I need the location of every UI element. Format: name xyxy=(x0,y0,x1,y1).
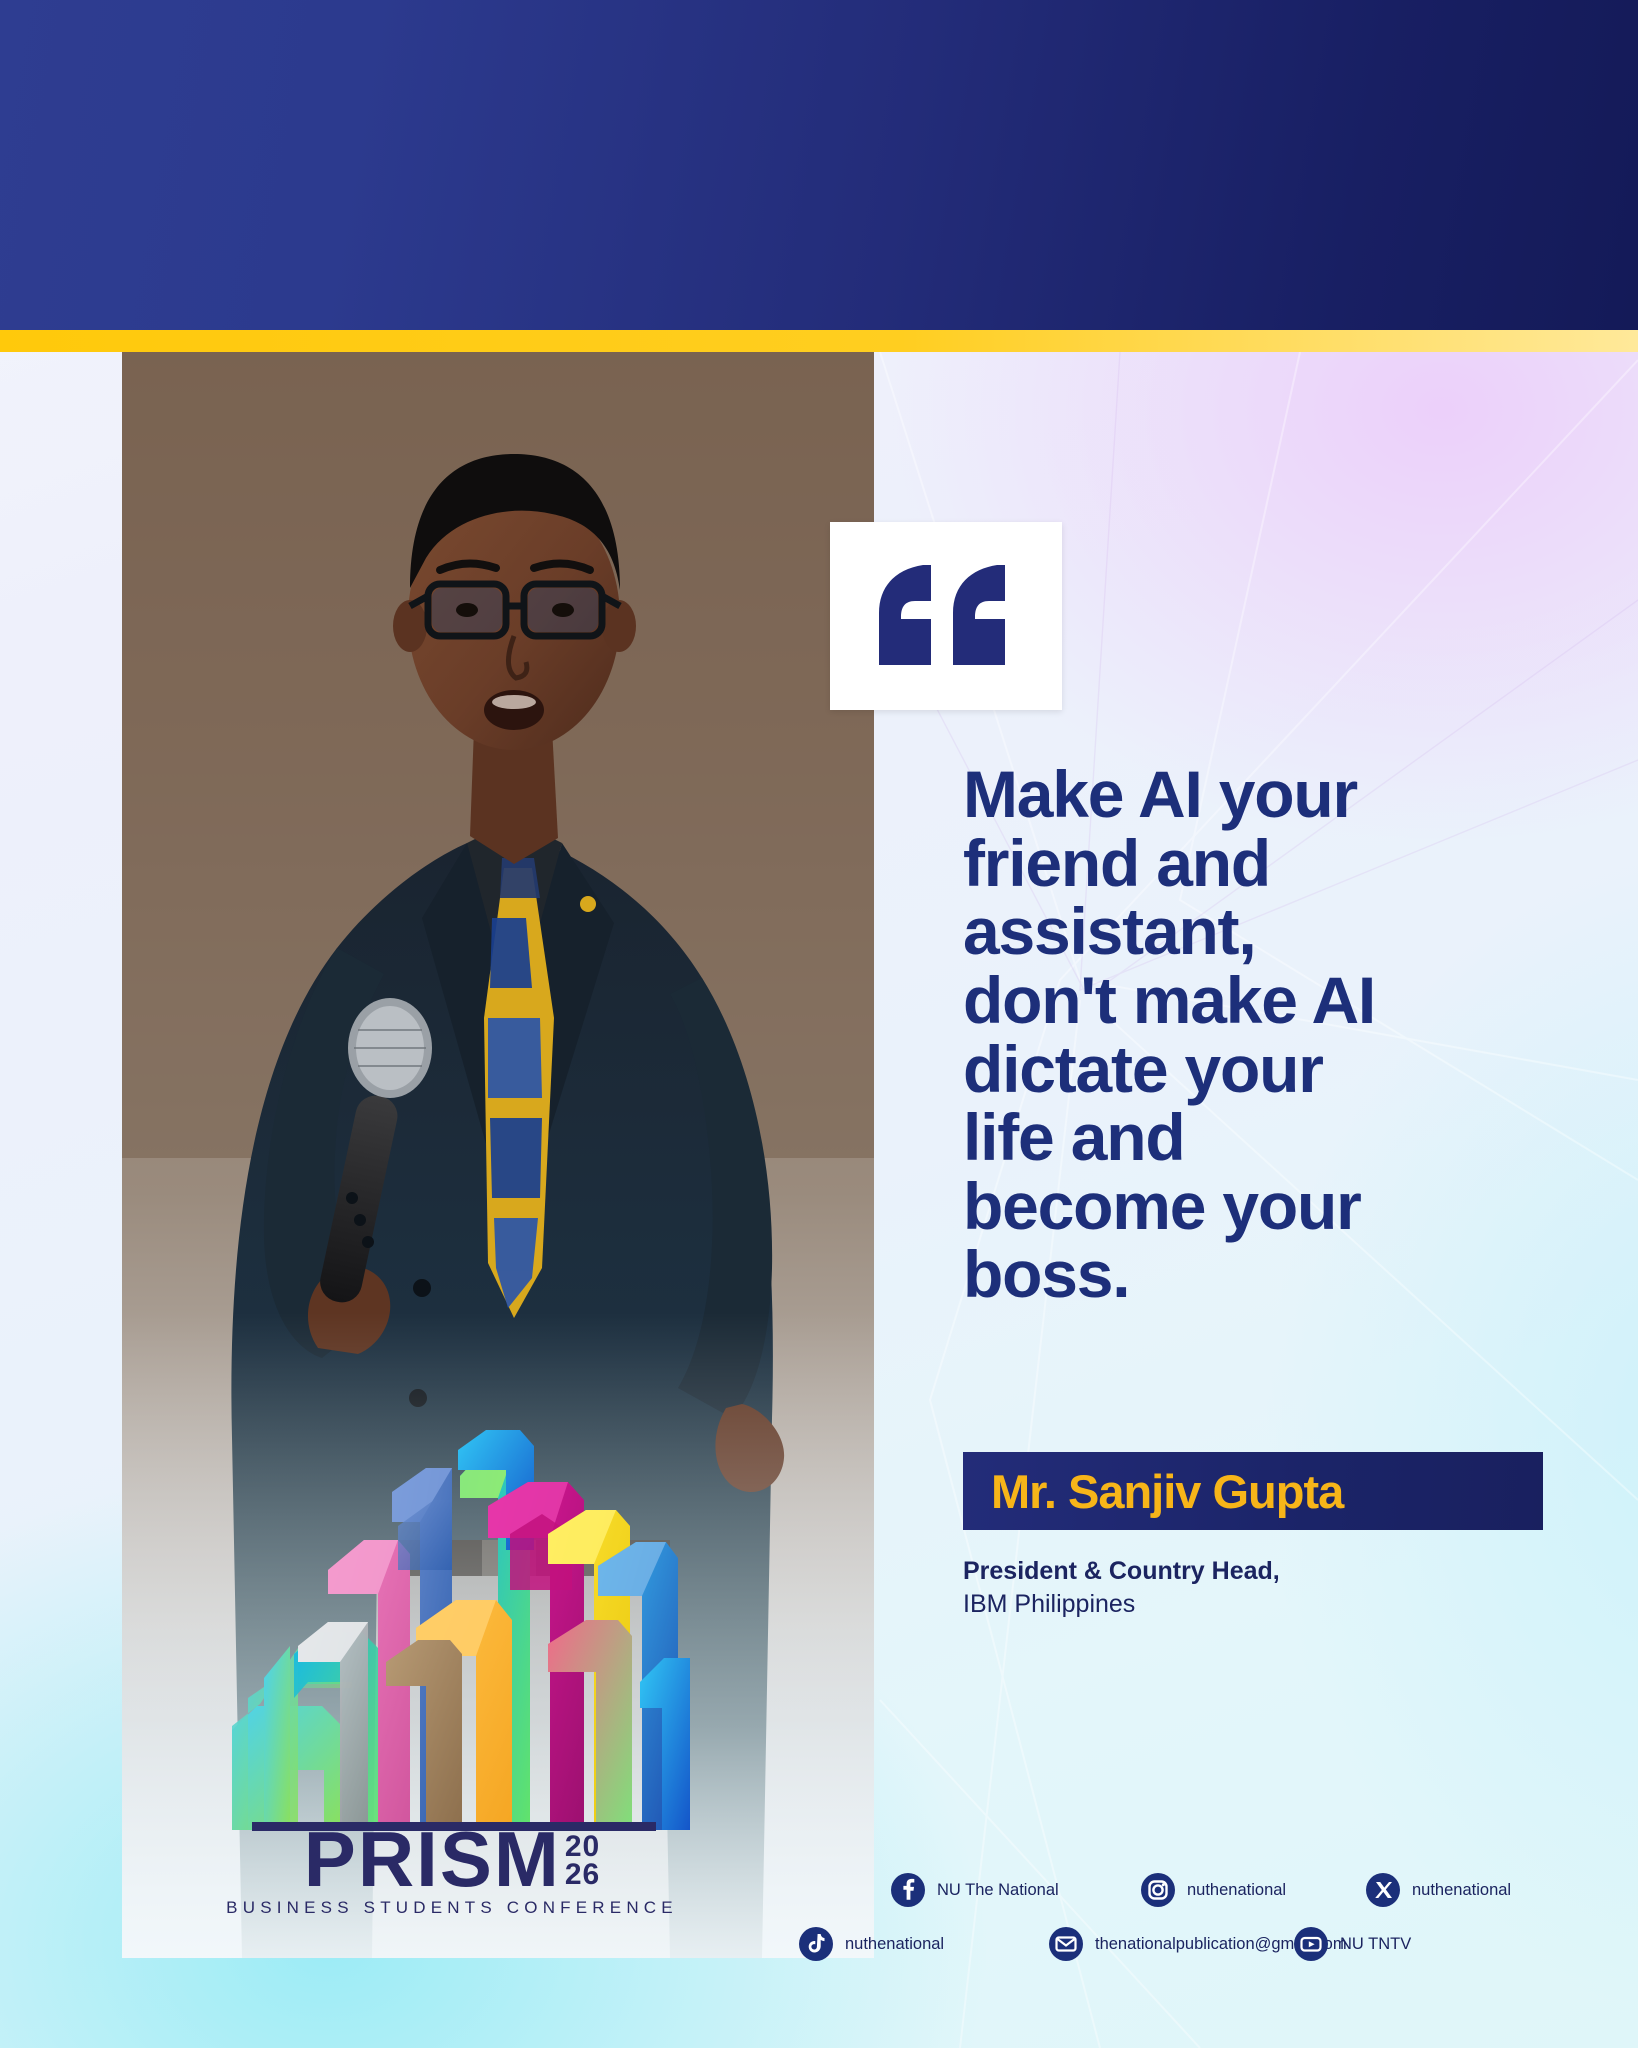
social-footer: NU The National nuthenational nuthenatio… xyxy=(890,1872,1590,1962)
social-instagram-label: nuthenational xyxy=(1187,1881,1286,1900)
quote-line: become your xyxy=(963,1172,1563,1241)
quote-line: don't make AI xyxy=(963,966,1563,1035)
prism-wordmark: PRISM 20 26 BUSINESS STUDENTS CONFERENCE xyxy=(202,1825,702,1918)
quote-line: assistant, xyxy=(963,897,1563,966)
prism-year-top: 20 xyxy=(565,1833,600,1861)
speaker-name: Mr. Sanjiv Gupta xyxy=(991,1464,1343,1519)
speaker-name-banner: Mr. Sanjiv Gupta xyxy=(963,1452,1543,1530)
poster-root: NU 1900 NATIONAL UNIVERSITY NU THE NATIO… xyxy=(0,0,1638,2048)
social-x[interactable]: nuthenational xyxy=(1365,1872,1511,1908)
prism-subtitle: BUSINESS STUDENTS CONFERENCE xyxy=(202,1898,702,1918)
quote-mark-box xyxy=(830,522,1062,710)
quote-open-icon xyxy=(871,561,1021,671)
speaker-role-line2: IBM Philippines xyxy=(963,1588,1563,1621)
speaker-role: President & Country Head, IBM Philippine… xyxy=(963,1555,1563,1620)
social-x-label: nuthenational xyxy=(1412,1881,1511,1900)
social-youtube-label: NU TNTV xyxy=(1340,1935,1411,1954)
speaker-role-line1: President & Country Head, xyxy=(963,1555,1563,1588)
instagram-icon xyxy=(1140,1872,1176,1908)
social-facebook[interactable]: NU The National xyxy=(890,1872,1140,1908)
facebook-icon xyxy=(890,1872,926,1908)
prism-year-bottom: 26 xyxy=(565,1861,600,1889)
header-bar xyxy=(0,0,1638,330)
social-facebook-label: NU The National xyxy=(937,1881,1059,1900)
quote-line: life and xyxy=(963,1103,1563,1172)
social-youtube[interactable]: NU TNTV xyxy=(1293,1926,1411,1962)
social-tiktok-label: nuthenational xyxy=(845,1935,944,1954)
quote-line: dictate your xyxy=(963,1035,1563,1104)
prism-logo-graphic xyxy=(212,1430,692,1870)
social-row-top: NU The National nuthenational nuthenatio… xyxy=(890,1872,1590,1908)
prism-title: PRISM xyxy=(304,1825,561,1894)
quote-line: boss. xyxy=(963,1240,1563,1309)
header-accent-strip xyxy=(0,330,1638,352)
x-twitter-icon xyxy=(1365,1872,1401,1908)
quote-line: friend and xyxy=(963,829,1563,898)
social-row-bottom: nuthenational thenationalpublication@gma… xyxy=(890,1926,1590,1962)
social-instagram[interactable]: nuthenational xyxy=(1140,1872,1365,1908)
social-email[interactable]: thenationalpublication@gmail.com xyxy=(1048,1926,1293,1962)
youtube-icon xyxy=(1293,1926,1329,1962)
social-tiktok[interactable]: nuthenational xyxy=(798,1926,1048,1962)
quote-line: Make AI your xyxy=(963,760,1563,829)
email-icon xyxy=(1048,1926,1084,1962)
prism-event-logo: PRISM 20 26 BUSINESS STUDENTS CONFERENCE xyxy=(212,1430,692,1870)
tiktok-icon xyxy=(798,1926,834,1962)
quote-text: Make AI your friend and assistant, don't… xyxy=(963,760,1563,1309)
